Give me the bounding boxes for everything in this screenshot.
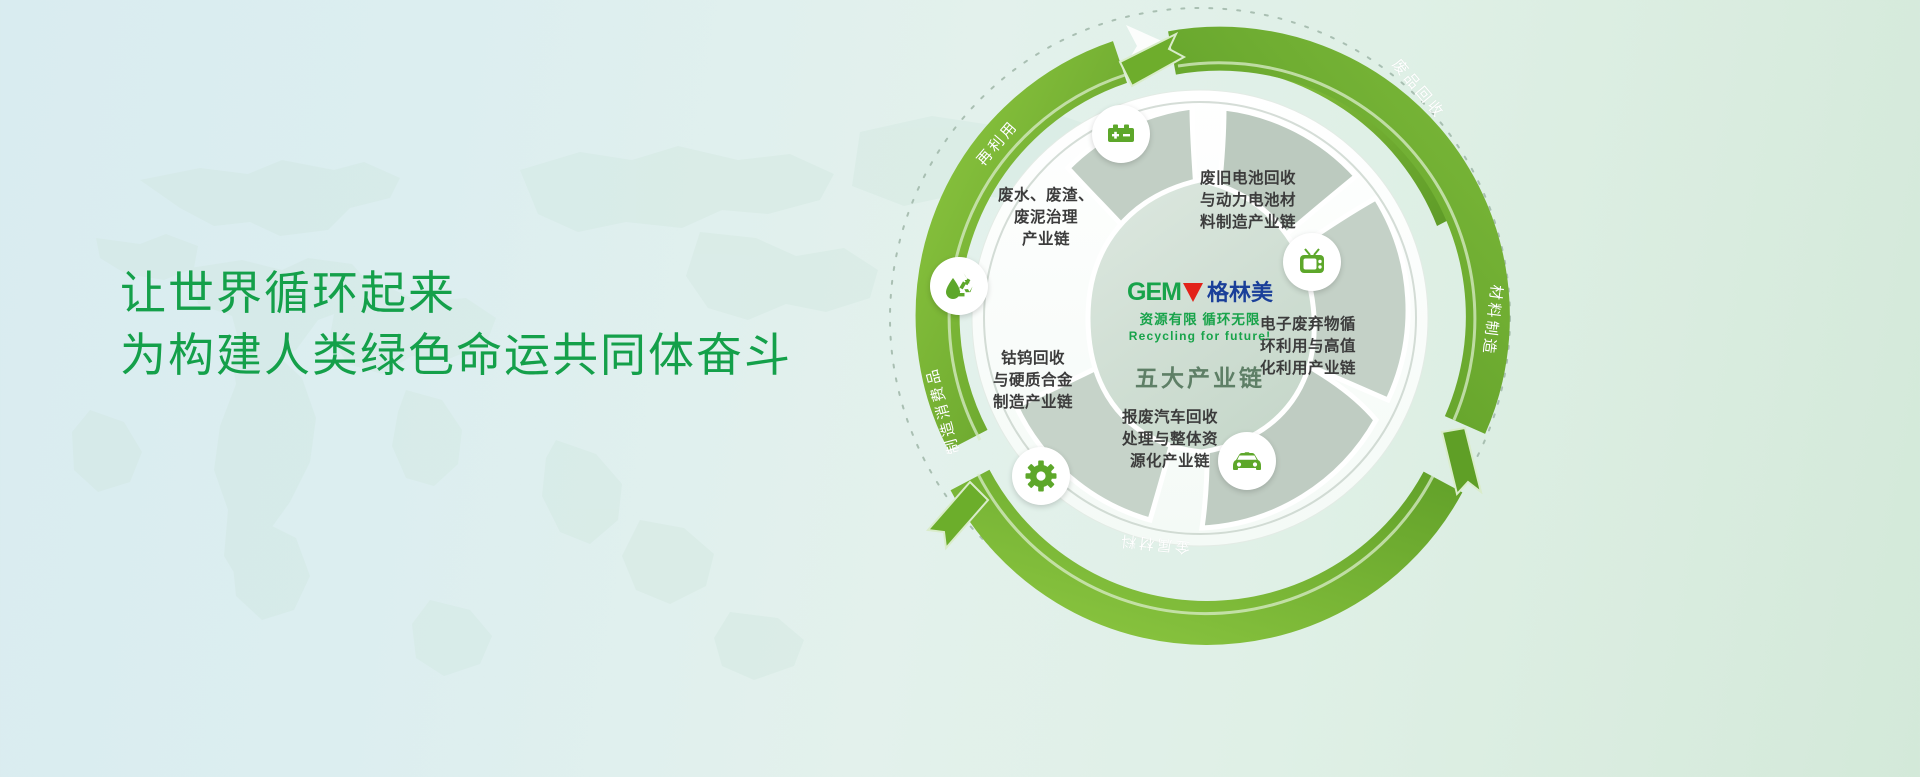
battery-icon	[1105, 118, 1137, 150]
chain-label-battery: 废旧电池回收 与动力电池材 料制造产业链	[1188, 168, 1308, 234]
logo-wordmark-row: GEM 格林美	[1100, 280, 1300, 305]
recycle-drop-icon	[942, 269, 976, 303]
battery-icon-bubble[interactable]	[1092, 105, 1150, 163]
chain-label-vehicle: 报废汽车回收 处理与整体资 源化产业链	[1110, 407, 1230, 473]
circular-industry-chain-diagram: 再利用 废品回收 材料制造 金属材料 制造消费品 废水、废渣、 废泥治理 产业链…	[820, 0, 1840, 777]
tv-icon	[1296, 246, 1328, 278]
chain-label-cobalt: 钴钨回收 与硬质合金 制造产业链	[968, 348, 1098, 414]
logo-triangle-icon	[1183, 283, 1203, 302]
tv-icon-bubble[interactable]	[1283, 233, 1341, 291]
center-title: 五大产业链	[1100, 359, 1300, 393]
gear-icon-bubble[interactable]	[1012, 447, 1070, 505]
headline-line-2: 为构建人类绿色命运共同体奋斗	[120, 324, 880, 386]
logo-chinese-name: 格林美	[1207, 282, 1273, 304]
headline-block: 让世界循环起来 为构建人类绿色命运共同体奋斗	[120, 262, 880, 386]
chain-label-wastewater: 废水、废渣、 废泥治理 产业链	[976, 185, 1116, 251]
gear-icon	[1024, 459, 1058, 493]
center-logo-block: GEM 格林美 资源有限 循环无限 Recycling for future! …	[1100, 280, 1300, 393]
recycle-drop-icon-bubble[interactable]	[930, 257, 988, 315]
car-icon-bubble[interactable]	[1218, 432, 1276, 490]
car-icon	[1230, 444, 1264, 478]
logo-slogan-en: Recycling for future!	[1100, 329, 1300, 343]
headline-line-1: 让世界循环起来	[120, 262, 880, 324]
logo-slogan-cn: 资源有限 循环无限	[1100, 308, 1300, 328]
logo-gem-text: GEM	[1127, 280, 1181, 305]
